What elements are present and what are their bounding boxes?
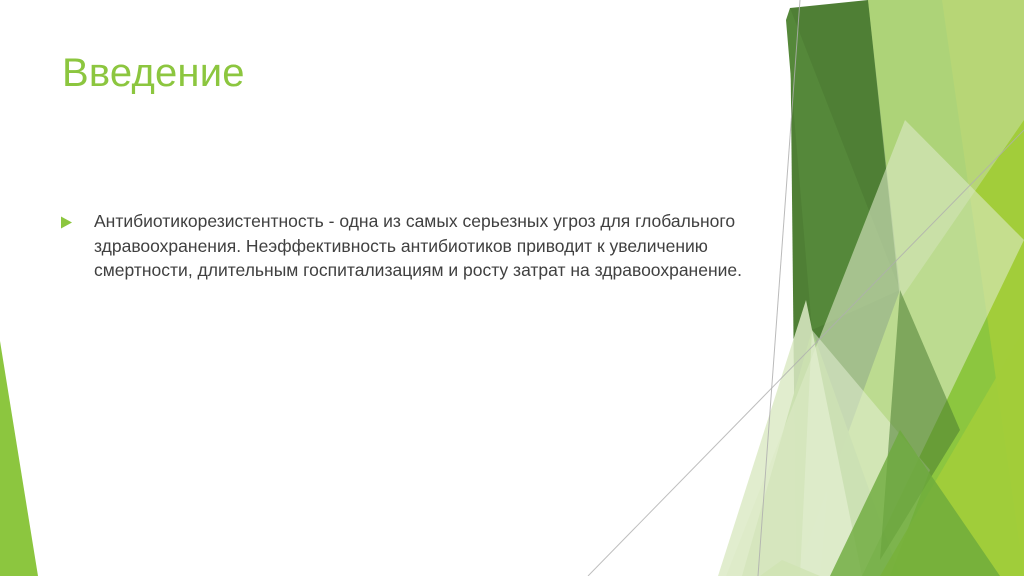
facet-bright-right (820, 0, 1024, 576)
facet-bright-lower-right (880, 330, 1024, 576)
facet-deep-lower (880, 290, 960, 560)
facet-pale-bottom-tip (760, 560, 820, 576)
slide-canvas: Введение Антибиотикорезистентность - одн… (0, 0, 1024, 576)
facet-pale-sliver-upper (868, 0, 1024, 300)
facet-pale-diagonal-band (726, 120, 1024, 576)
triangle-right-bullet-icon (60, 209, 94, 229)
left-accent-wedge (0, 341, 38, 576)
content-placeholder: Антибиотикорезистентность - одна из самы… (60, 209, 760, 283)
hairline-lower-diagonal (588, 130, 1024, 576)
list-item: Антибиотикорезистентность - одна из самы… (60, 209, 760, 283)
facet-dark-lower-mid (830, 430, 1000, 576)
title-placeholder: Введение (62, 50, 702, 96)
facet-mid-lower (742, 330, 900, 576)
facet-pale-mid (800, 330, 930, 576)
facet-dark-upper (786, 8, 900, 330)
facet-lime-far-right (905, 0, 1024, 576)
hairline-upper (758, 0, 800, 576)
page-title: Введение (62, 50, 702, 96)
facet-light-left-edge (718, 300, 862, 576)
bullet-paragraph-text: Антибиотикорезистентность - одна из самы… (94, 209, 760, 283)
facet-deep-green-core (790, 0, 900, 576)
